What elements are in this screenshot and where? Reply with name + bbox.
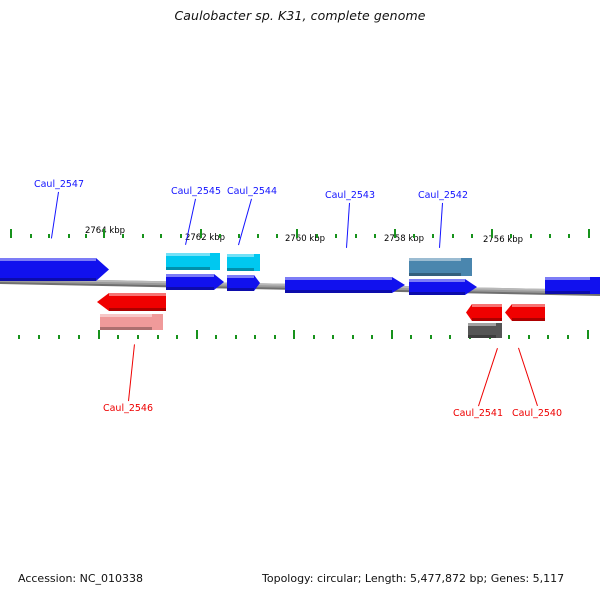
feature-shadow — [409, 292, 465, 295]
sequence-tick — [48, 234, 50, 238]
feature-shadow — [109, 308, 166, 311]
feature-highlight — [166, 253, 210, 256]
gene-label-caul_2544[interactable]: Caul_2544 — [227, 186, 277, 197]
sequence-tick — [471, 234, 473, 238]
sequence-tick — [103, 229, 105, 238]
sequence-tick — [58, 335, 60, 339]
sequence-tick — [160, 234, 162, 238]
feature-shadow — [468, 335, 496, 338]
feature-shadow — [0, 278, 96, 281]
sequence-tick — [78, 335, 80, 339]
sequence-tick — [38, 335, 40, 339]
gene-label-caul_2541[interactable]: Caul_2541 — [453, 408, 503, 419]
sequence-tick — [313, 335, 315, 339]
page-title: Caulobacter sp. K31, complete genome — [0, 8, 600, 23]
feature-highlight — [227, 275, 254, 278]
gene-feature-right-edge-arrow[interactable] — [545, 277, 600, 294]
gene-feature-caul-2546-arrow[interactable] — [97, 293, 166, 311]
accession-text: Accession: NC_010338 — [18, 572, 143, 585]
sequence-tick — [257, 234, 259, 238]
feature-shadow — [512, 318, 545, 321]
sequence-tick — [122, 234, 124, 238]
sequence-tick — [335, 234, 337, 238]
feature-highlight — [545, 277, 590, 280]
sequence-tick — [274, 335, 276, 339]
feature-shadow — [409, 273, 461, 276]
feature-shadow — [227, 288, 254, 291]
sequence-tick — [200, 229, 202, 238]
ruler-tick-label: 2758 kbp — [384, 234, 424, 244]
leader-line — [128, 344, 135, 401]
sequence-tick — [567, 335, 569, 339]
sequence-tick — [391, 330, 393, 339]
leader-line — [439, 203, 443, 248]
gene-feature-caul-2546-box[interactable] — [100, 314, 163, 330]
gene-feature-caul-2547-arrow[interactable] — [0, 258, 109, 281]
sequence-tick — [491, 229, 493, 238]
gene-label-caul_2543[interactable]: Caul_2543 — [325, 190, 375, 201]
gene-feature-caul-2542-arrow[interactable] — [409, 279, 477, 295]
sequence-tick — [316, 234, 318, 238]
feature-highlight — [472, 304, 502, 307]
sequence-tick — [394, 229, 396, 238]
feature-highlight — [109, 293, 166, 296]
sequence-tick — [430, 335, 432, 339]
sequence-tick — [276, 234, 278, 238]
sequence-tick — [549, 234, 551, 238]
genome-summary-text: Topology: circular; Length: 5,477,872 bp… — [262, 572, 564, 585]
sequence-tick — [355, 234, 357, 238]
sequence-tick — [215, 335, 217, 339]
sequence-tick — [413, 234, 415, 238]
feature-shadow — [545, 291, 590, 294]
sequence-tick — [10, 229, 12, 238]
sequence-tick — [352, 335, 354, 339]
leader-line — [238, 199, 252, 245]
sequence-tick — [254, 335, 256, 339]
sequence-tick — [587, 330, 589, 339]
gene-feature-caul-2541-box[interactable] — [468, 323, 502, 338]
leader-line — [518, 348, 538, 406]
feature-shadow — [166, 267, 210, 270]
sequence-tick — [142, 234, 144, 238]
sequence-tick — [508, 335, 510, 339]
feature-highlight — [166, 274, 214, 277]
sequence-tick — [196, 330, 198, 339]
gene-label-caul_2542[interactable]: Caul_2542 — [418, 190, 468, 201]
sequence-tick — [18, 335, 20, 339]
feature-shadow — [285, 290, 392, 293]
sequence-tick — [374, 234, 376, 238]
sequence-tick — [157, 335, 159, 339]
sequence-tick — [85, 234, 87, 238]
ruler-tick-label: 2756 kbp — [483, 235, 523, 245]
feature-shadow — [100, 327, 152, 330]
leader-line — [346, 203, 350, 248]
gene-feature-caul-2544-box[interactable] — [227, 254, 260, 271]
sequence-tick — [510, 234, 512, 238]
sequence-tick — [452, 234, 454, 238]
sequence-tick — [432, 234, 434, 238]
sequence-tick — [293, 330, 295, 339]
feature-shadow — [227, 268, 254, 271]
sequence-tick — [176, 335, 178, 339]
feature-shadow — [166, 287, 214, 290]
gene-feature-caul-2545-arrow[interactable] — [166, 274, 224, 290]
leader-line — [478, 348, 498, 406]
feature-highlight — [227, 254, 254, 257]
sequence-tick — [530, 234, 532, 238]
sequence-tick — [180, 234, 182, 238]
feature-highlight — [409, 279, 465, 282]
sequence-tick — [588, 229, 590, 238]
feature-highlight — [285, 277, 392, 280]
sequence-tick — [137, 335, 139, 339]
feature-highlight — [468, 323, 496, 326]
gene-label-caul_2540[interactable]: Caul_2540 — [512, 408, 562, 419]
feature-highlight — [409, 258, 461, 261]
sequence-tick — [235, 335, 237, 339]
gene-label-caul_2547[interactable]: Caul_2547 — [34, 179, 84, 190]
sequence-tick — [68, 234, 70, 238]
sequence-tick — [547, 335, 549, 339]
ruler-tick-label: 2760 kbp — [285, 234, 325, 244]
gene-feature-caul-2542-box[interactable] — [409, 258, 472, 276]
sequence-tick — [219, 234, 221, 238]
leader-line — [51, 192, 59, 238]
sequence-tick — [528, 335, 530, 339]
sequence-tick — [98, 330, 100, 339]
feature-highlight — [512, 304, 545, 307]
ruler-tick-label: 2764 kbp — [85, 226, 125, 236]
sequence-tick — [296, 229, 298, 238]
sequence-tick — [30, 234, 32, 238]
sequence-tick — [117, 335, 119, 339]
gene-label-caul_2546[interactable]: Caul_2546 — [103, 403, 153, 414]
sequence-tick — [449, 335, 451, 339]
feature-highlight — [0, 258, 96, 261]
feature-highlight — [100, 314, 152, 317]
sequence-tick — [410, 335, 412, 339]
sequence-tick — [332, 335, 334, 339]
feature-shape — [0, 258, 109, 281]
gene-feature-caul-2545-box[interactable] — [166, 253, 220, 270]
gene-feature-caul-2544-arrow[interactable] — [227, 275, 260, 291]
genome-browser-canvas: Caulobacter sp. K31, complete genome 276… — [0, 0, 600, 600]
gene-label-caul_2545[interactable]: Caul_2545 — [171, 186, 221, 197]
sequence-tick — [371, 335, 373, 339]
gene-feature-caul-2543-arrow[interactable] — [285, 277, 405, 293]
gene-feature-caul-2540-arrow[interactable] — [505, 304, 545, 321]
feature-shadow — [472, 318, 502, 321]
gene-feature-caul-2541-arrow[interactable] — [466, 304, 502, 321]
sequence-tick — [568, 234, 570, 238]
